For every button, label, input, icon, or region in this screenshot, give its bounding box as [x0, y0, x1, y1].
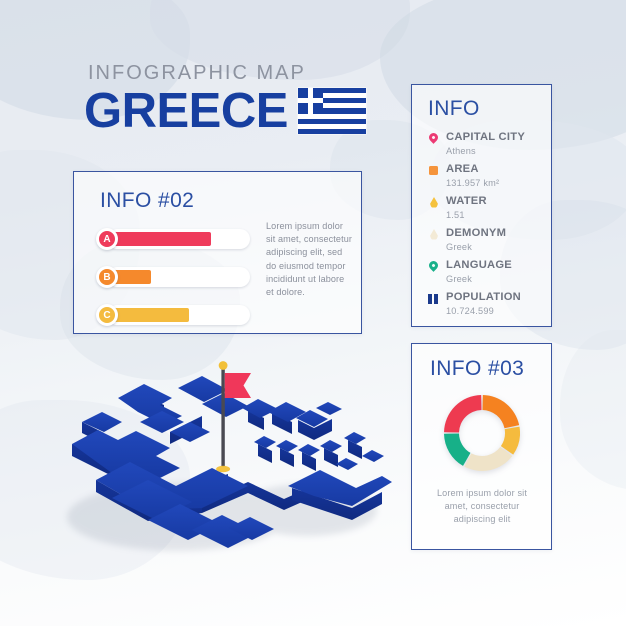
donut-chart: [440, 391, 524, 475]
donut-segment: [482, 395, 519, 428]
page-kicker: INFOGRAPHIC MAP: [88, 62, 366, 85]
flag-marker-svg: [205, 357, 255, 475]
info-02-bar-list: A B C: [96, 228, 250, 342]
flag-knob-icon: [219, 361, 228, 370]
info-03-panel: INFO #03 Lorem ipsum dolor sit amet, con…: [411, 343, 552, 550]
info-facts-panel: INFO CAPITAL CITY Athens AREA 131.957 km…: [411, 84, 552, 327]
info-facts-list: CAPITAL CITY Athens AREA 131.957 km² WAT…: [428, 131, 543, 323]
progress-bar-row: A: [96, 228, 250, 250]
progress-badge: B: [96, 266, 118, 288]
people-icon: [428, 292, 441, 305]
fact-label: CAPITAL CITY: [446, 131, 543, 144]
flag-pole: [221, 367, 224, 467]
flag-base: [216, 466, 230, 472]
progress-badge-label: A: [99, 231, 115, 247]
donut-segment: [444, 395, 482, 433]
page-header: INFOGRAPHIC MAP GREECE: [84, 62, 366, 135]
fact-label: AREA: [446, 163, 543, 176]
water-drop-icon: [428, 196, 441, 209]
flag-banner: [225, 373, 251, 398]
info-02-title: INFO #02: [100, 189, 194, 213]
progress-badge: C: [96, 304, 118, 326]
progress-fill: [107, 308, 189, 322]
greece-flag-icon: [298, 88, 366, 134]
info-03-description: Lorem ipsum dolor sit amet, consectetur …: [424, 487, 540, 526]
progress-bar-row: B: [96, 266, 250, 288]
progress-fill: [107, 232, 211, 246]
capital-flag-marker: [205, 357, 255, 475]
info-facts-title: INFO: [428, 97, 480, 121]
square-icon: [428, 164, 441, 177]
fact-row-language: LANGUAGE Greek: [428, 259, 543, 285]
map-pin-icon: [428, 132, 441, 145]
info-03-title: INFO #03: [430, 357, 524, 381]
donut-segment: [464, 447, 512, 471]
fact-row-capital-city: CAPITAL CITY Athens: [428, 131, 543, 157]
fact-value: 1.51: [446, 209, 543, 221]
fact-value: 131.957 km²: [446, 177, 543, 189]
map-pin-icon: [428, 260, 441, 273]
progress-badge-label: B: [99, 269, 115, 285]
donut-chart-svg: [440, 391, 524, 475]
info-02-description: Lorem ipsum dolor sit amet, consectetur …: [266, 220, 352, 299]
fact-row-demonym: DEMONYM Greek: [428, 227, 543, 253]
page-title: GREECE: [84, 87, 288, 135]
fact-value: 10.724.599: [446, 305, 543, 317]
progress-badge: A: [96, 228, 118, 250]
fact-value: Greek: [446, 273, 543, 285]
fact-label: DEMONYM: [446, 227, 543, 240]
fact-label: LANGUAGE: [446, 259, 543, 272]
water-drop-icon: [428, 228, 441, 241]
progress-badge-label: C: [99, 307, 115, 323]
donut-segment: [444, 433, 470, 465]
progress-bar-row: C: [96, 304, 250, 326]
fact-row-population: POPULATION 10.724.599: [428, 291, 543, 317]
fact-value: Greek: [446, 241, 543, 253]
infographic-canvas: INFOGRAPHIC MAP GREECE INFO #02 A: [0, 0, 626, 626]
info-02-panel: INFO #02 A B C: [73, 171, 362, 334]
fact-label: POPULATION: [446, 291, 543, 304]
fact-value: Athens: [446, 145, 543, 157]
fact-label: WATER: [446, 195, 543, 208]
fact-row-area: AREA 131.957 km²: [428, 163, 543, 189]
fact-row-water: WATER 1.51: [428, 195, 543, 221]
